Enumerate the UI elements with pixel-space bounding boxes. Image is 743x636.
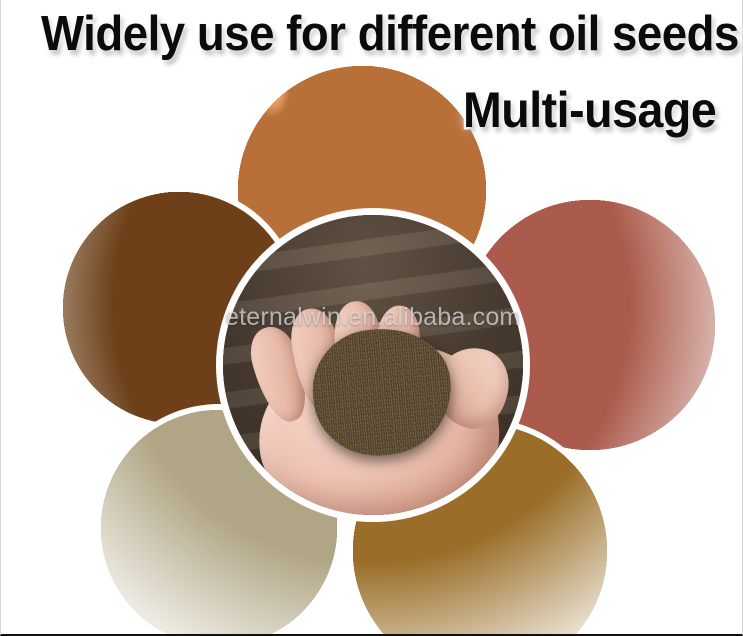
- subtitle-multi-usage: Multi-usage: [463, 83, 716, 137]
- banner-canvas: Widely use for different oil seeds Multi…: [0, 0, 743, 636]
- center-circle-rapeseed: [223, 215, 523, 515]
- page-title: Widely use for different oil seeds: [41, 8, 739, 60]
